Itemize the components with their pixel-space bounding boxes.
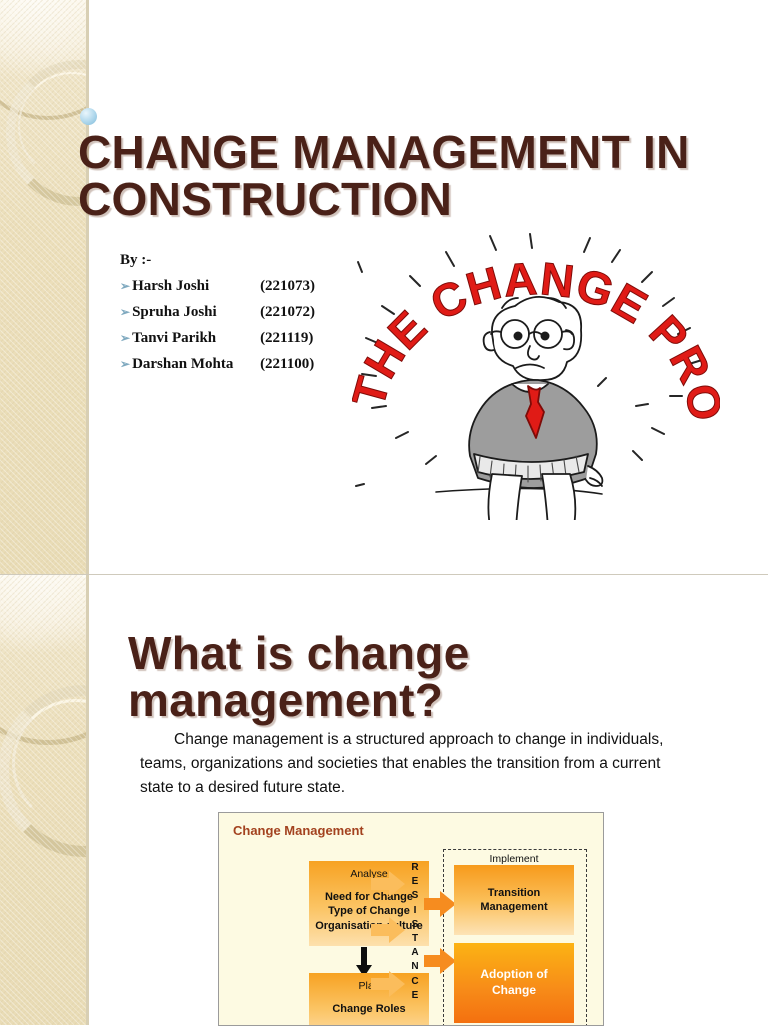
list-item: ➢ Darshan Mohta (221100): [120, 356, 350, 373]
implement-label: Implement: [443, 853, 585, 865]
author-name: Harsh Joshi: [132, 278, 260, 295]
arrow-bullet-icon: ➢: [120, 358, 130, 370]
list-item: ➢ Tanvi Parikh (221119): [120, 330, 350, 347]
author-id: (221100): [260, 356, 314, 373]
page-title: CHANGE MANAGEMENT IN CONSTRUCTION: [78, 129, 738, 223]
title-bullet-icon: [80, 108, 97, 125]
arrow-right-icon: [371, 871, 405, 902]
author-id: (221073): [260, 278, 315, 295]
slide-title: CHANGE MANAGEMENT IN CONSTRUCTION By :- …: [0, 0, 768, 574]
body-paragraph: Change management is a structured approa…: [140, 728, 685, 800]
list-item: ➢ Harsh Joshi (221073): [120, 278, 350, 295]
section-title: What is change management?: [128, 630, 688, 724]
arrow-right-icon: [371, 971, 405, 1002]
arrow-bullet-icon: ➢: [120, 306, 130, 318]
sidebar-decoration: [0, 0, 89, 574]
arrow-bullet-icon: ➢: [120, 332, 130, 344]
change-management-diagram: Change Management Implement Analyse Need…: [218, 812, 604, 1026]
transition-label: Transition Management: [480, 886, 547, 915]
diagram-title: Change Management: [233, 823, 364, 838]
presentation-deck: CHANGE MANAGEMENT IN CONSTRUCTION By :- …: [0, 0, 768, 1024]
diagram-box-adoption-of-change: Adoption of Change: [454, 943, 574, 1023]
by-label: By :-: [120, 252, 350, 269]
author-name: Darshan Mohta: [132, 356, 260, 373]
author-id: (221119): [260, 330, 313, 347]
sidebar-decoration: [0, 575, 89, 1025]
author-name: Tanvi Parikh: [132, 330, 260, 347]
author-name: Spruha Joshi: [132, 304, 260, 321]
plan-items: Change Roles: [332, 1002, 405, 1016]
diagram-box-transition-management: Transition Management: [454, 865, 574, 935]
arrow-right-icon: [371, 917, 405, 948]
arrow-right-icon: [424, 891, 456, 922]
change-process-clipart: THE CHANGE PROCESS THE CHANGE PROCESS: [352, 228, 720, 520]
author-block: By :- ➢ Harsh Joshi (221073) ➢ Spruha Jo…: [120, 252, 350, 382]
adoption-label: Adoption of Change: [480, 967, 547, 998]
arrow-bullet-icon: ➢: [120, 280, 130, 292]
author-id: (221072): [260, 304, 315, 321]
arrow-right-icon: [424, 948, 456, 979]
resistance-label: RESISTANCE: [407, 861, 423, 1003]
list-item: ➢ Spruha Joshi (221072): [120, 304, 350, 321]
